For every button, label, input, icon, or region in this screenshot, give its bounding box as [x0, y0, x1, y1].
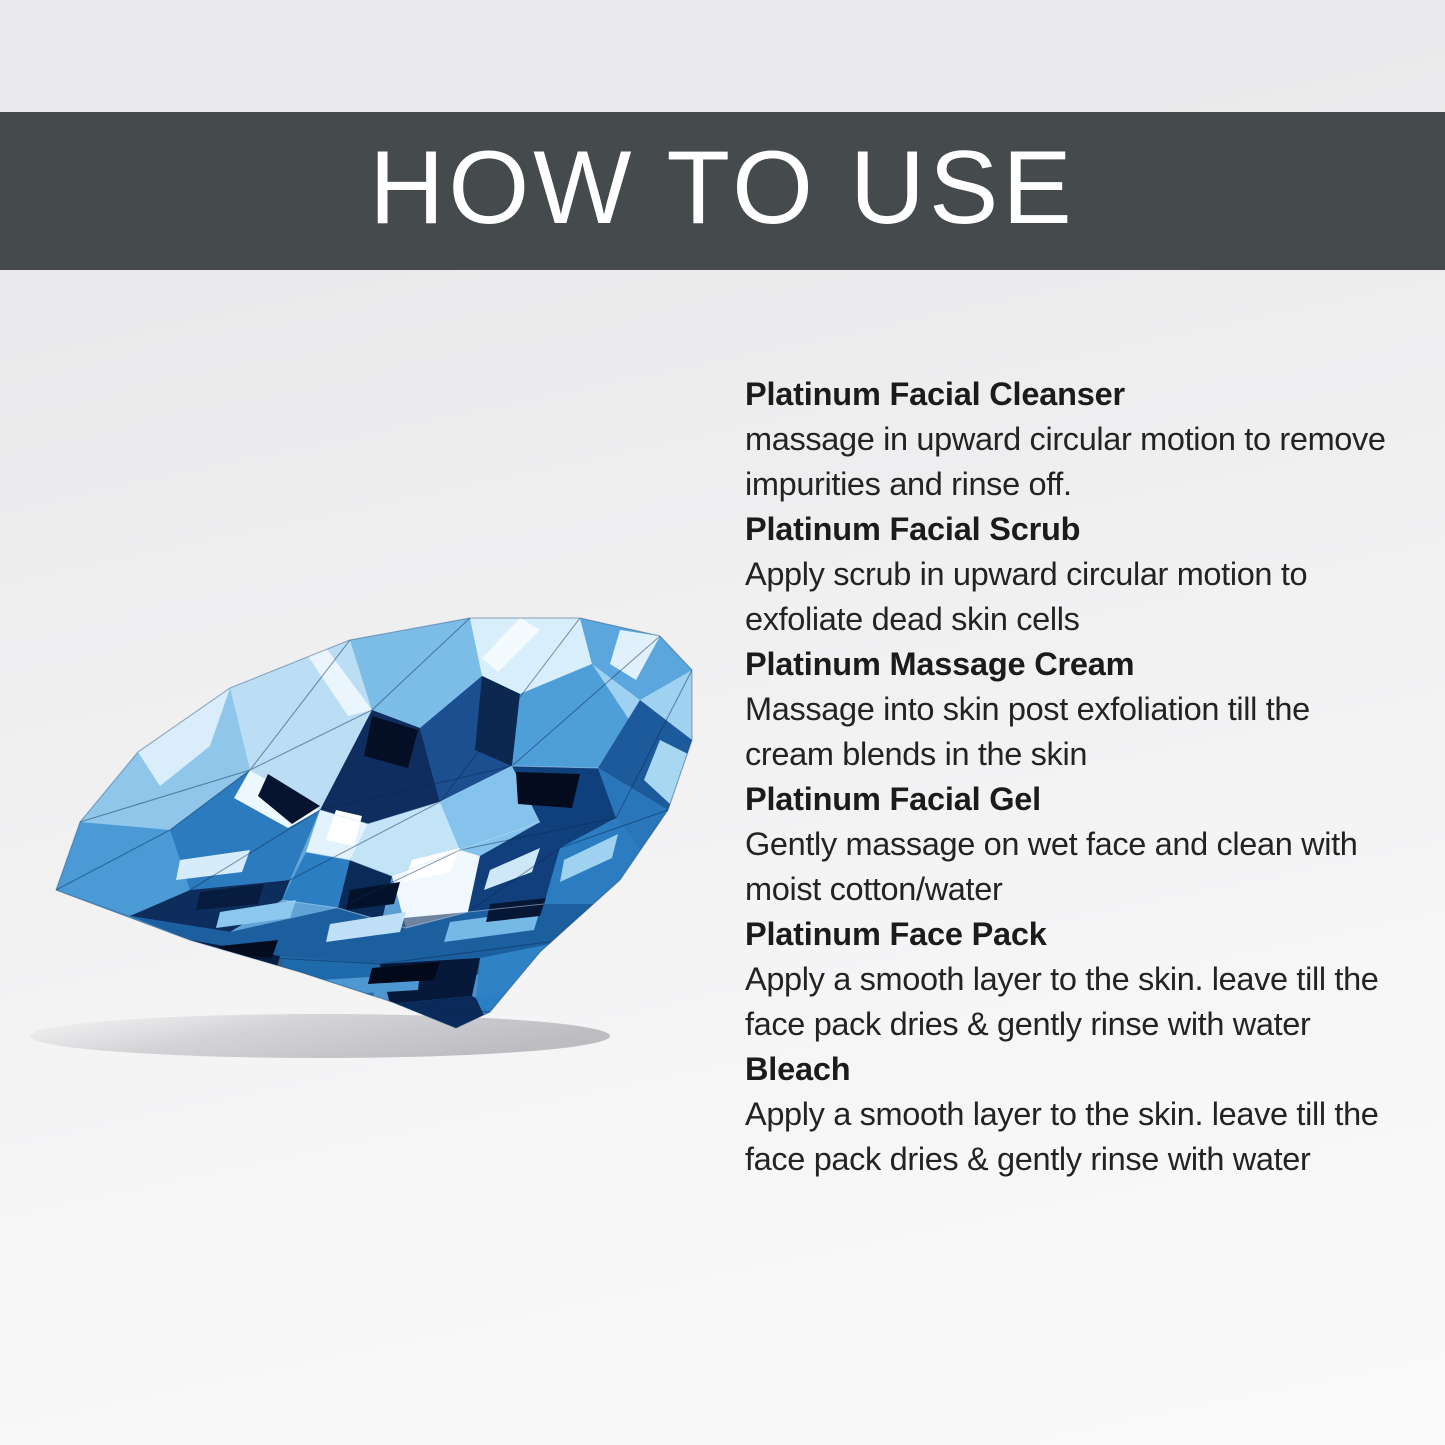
hero-image-panel — [0, 270, 730, 1445]
step-body: Gently massage on wet face and clean wit… — [745, 822, 1405, 912]
step-item: Platinum Facial Cleanser massage in upwa… — [745, 372, 1405, 507]
step-body: Apply scrub in upward circular motion to… — [745, 552, 1405, 642]
step-body: Apply a smooth layer to the skin. leave … — [745, 1092, 1405, 1182]
step-item: Platinum Facial Scrub Apply scrub in upw… — [745, 507, 1405, 642]
step-body: Apply a smooth layer to the skin. leave … — [745, 957, 1405, 1047]
step-title: Platinum Facial Gel — [745, 777, 1405, 822]
how-to-use-page: HOW TO USE — [0, 0, 1445, 1445]
step-item: Platinum Facial Gel Gently massage on we… — [745, 777, 1405, 912]
page-title: HOW TO USE — [369, 136, 1075, 240]
step-title: Platinum Face Pack — [745, 912, 1405, 957]
step-title: Platinum Facial Scrub — [745, 507, 1405, 552]
step-body: massage in upward circular motion to rem… — [745, 417, 1405, 507]
step-title: Platinum Facial Cleanser — [745, 372, 1405, 417]
diamond-body — [20, 560, 720, 1080]
instructions-list: Platinum Facial Cleanser massage in upwa… — [745, 372, 1405, 1182]
blue-diamond-image — [20, 560, 720, 1080]
step-item: Platinum Massage Cream Massage into skin… — [745, 642, 1405, 777]
diamond-shadow — [30, 1014, 610, 1058]
step-item: Platinum Face Pack Apply a smooth layer … — [745, 912, 1405, 1047]
step-title: Platinum Massage Cream — [745, 642, 1405, 687]
step-title: Bleach — [745, 1047, 1405, 1092]
step-item: Bleach Apply a smooth layer to the skin.… — [745, 1047, 1405, 1182]
step-body: Massage into skin post exfoliation till … — [745, 687, 1405, 777]
header-band: HOW TO USE — [0, 112, 1445, 270]
